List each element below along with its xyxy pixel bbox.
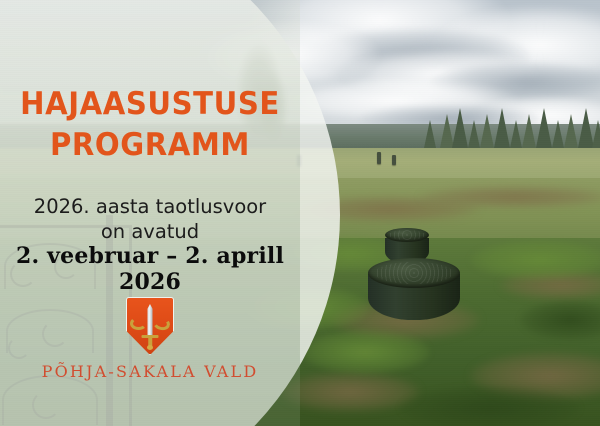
soil-patch <box>420 186 600 208</box>
horn-icon <box>130 317 147 330</box>
soil-patch <box>280 372 420 412</box>
septic-tank-cover-large <box>368 258 460 320</box>
page-title: HAJAASUSTUSE PROGRAMM <box>9 84 291 166</box>
text-content-panel: HAJAASUSTUSE PROGRAMM 2026. aasta taotlu… <box>0 0 300 426</box>
headline-line-2: PROGRAMM <box>9 125 291 166</box>
headline-line-1: HAJAASUSTUSE <box>20 86 280 122</box>
grass-tuft <box>400 386 580 426</box>
field-post <box>392 155 396 165</box>
subtitle: 2026. aasta taotlusvoor on avatud <box>0 194 300 244</box>
grass-tuft <box>300 330 430 374</box>
application-date-range: 2. veebruar – 2. aprill 2026 <box>0 243 300 295</box>
poster-canvas: HAJAASUSTUSE PROGRAMM 2026. aasta taotlu… <box>0 0 600 426</box>
sword-icon <box>148 304 153 338</box>
grass-tuft <box>470 240 600 280</box>
field-post <box>377 152 381 164</box>
coat-of-arms-icon <box>126 297 174 355</box>
sword-pommel-icon <box>147 345 153 350</box>
subtitle-line-2: on avatud <box>0 219 300 244</box>
municipality-name: PÕHJA-SAKALA VALD <box>0 362 300 381</box>
subtitle-line-1: 2026. aasta taotlusvoor <box>0 194 300 219</box>
